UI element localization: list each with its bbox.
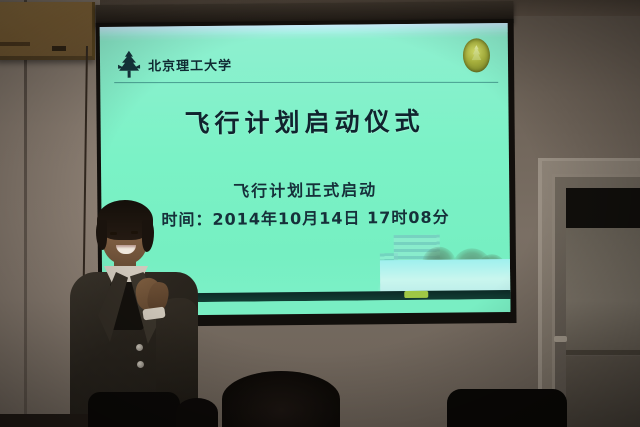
presenter-eye xyxy=(131,231,138,234)
air-conditioner-vent xyxy=(0,42,30,46)
university-name: 北京理工大学 xyxy=(148,54,232,74)
presenter-hair-side xyxy=(142,220,154,252)
crest-tree-shape xyxy=(469,45,483,63)
chair-back-left xyxy=(88,392,180,427)
presenter-jacket-button xyxy=(137,361,144,368)
audience-head xyxy=(222,371,340,427)
slide-photo-strip xyxy=(380,259,510,293)
photo-scene: 北京理工大学 飞行计划启动仪式 飞行计划正式启动 时间：2014年10月14日 … xyxy=(0,0,640,427)
slide-title: 飞行计划启动仪式 xyxy=(100,101,508,141)
presenter-hair-side xyxy=(96,220,107,250)
air-conditioner-unit xyxy=(0,2,95,60)
door-handle[interactable] xyxy=(554,336,567,342)
pine-tree-logo-icon xyxy=(116,50,142,80)
audience-head xyxy=(176,398,218,427)
screen-highlight-marker xyxy=(404,291,428,298)
presenter-jacket-button xyxy=(136,344,143,351)
door-lower-panel xyxy=(566,356,640,427)
university-crest-icon xyxy=(463,38,490,72)
door-window xyxy=(566,228,640,355)
presenter-eye xyxy=(110,232,117,235)
wall-seam xyxy=(24,0,27,427)
air-conditioner-label xyxy=(52,46,66,51)
foreground-shadow xyxy=(0,414,96,427)
chair-back-right xyxy=(447,389,567,427)
door-window-upper xyxy=(566,188,640,228)
university-logo: 北京理工大学 xyxy=(116,49,232,80)
